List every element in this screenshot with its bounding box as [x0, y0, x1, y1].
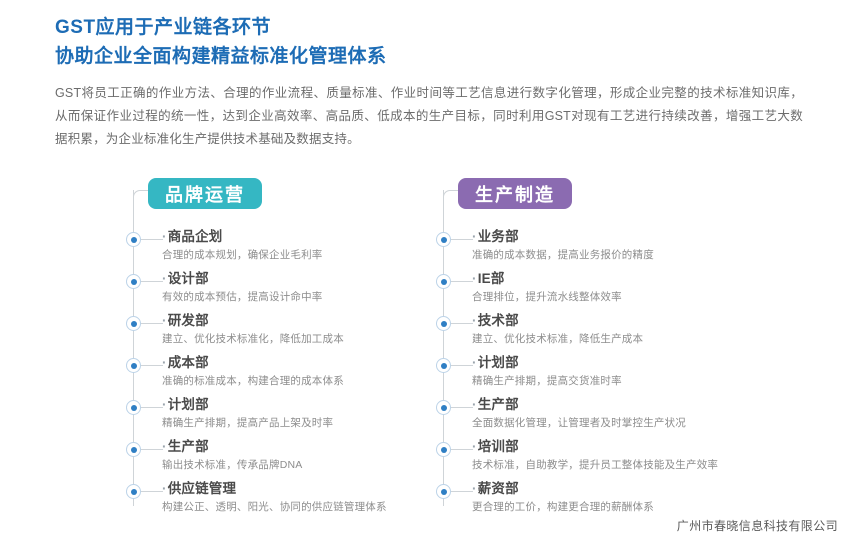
list-item-desc: 合理的成本规划，确保企业毛利率	[162, 248, 452, 263]
timeline-connector	[141, 323, 163, 324]
column-badge-production-manufacturing: 生产制造	[458, 178, 572, 209]
timeline-connector	[141, 281, 163, 282]
column-badge-brand-operations: 品牌运营	[148, 178, 262, 209]
timeline-dot-icon	[126, 400, 141, 415]
timeline-connector	[141, 239, 163, 240]
list-item-desc: 技术标准，自助教学，提升员工整体技能及生产效率	[472, 458, 762, 473]
timeline-connector	[451, 449, 473, 450]
list-item-title: IE部	[472, 270, 762, 288]
timeline-connector	[451, 281, 473, 282]
list-item[interactable]: 商品企划 合理的成本规划，确保企业毛利率	[122, 232, 452, 274]
timeline-dot-icon	[436, 400, 451, 415]
column-brand-operations: 品牌运营 商品企划 合理的成本规划，确保企业毛利率 设计部 有效的成本预估，提高…	[122, 176, 452, 506]
page-title-secondary: 协助企业全面构建精益标准化管理体系	[55, 42, 815, 72]
list-item-body: 供应链管理 构建公正、透明、阳光、协同的供应链管理体系	[162, 480, 452, 515]
list-item-title: 生产部	[472, 396, 762, 414]
list-item-body: 技术部 建立、优化技术标准，降低生产成本	[472, 312, 762, 347]
timeline-connector	[451, 365, 473, 366]
list-item[interactable]: 业务部 准确的成本数据，提高业务报价的精度	[432, 232, 762, 274]
timeline-connector	[141, 407, 163, 408]
timeline-dot-icon	[436, 484, 451, 499]
list-item-title: 计划部	[162, 396, 452, 414]
list-item-desc: 精确生产排期，提高交货准时率	[472, 374, 762, 389]
list-item-body: 成本部 准确的标准成本，构建合理的成本体系	[162, 354, 452, 389]
list-item-title: 商品企划	[162, 228, 452, 246]
list-item-body: 生产部 全面数据化管理，让管理者及时掌控生产状况	[472, 396, 762, 431]
list-item-title: 薪资部	[472, 480, 762, 498]
list-item-body: 生产部 输出技术标准，传承品牌DNA	[162, 438, 452, 473]
list-item[interactable]: 计划部 精确生产排期，提高产品上架及时率	[122, 400, 452, 442]
timeline-connector	[141, 365, 163, 366]
list-item-body: 设计部 有效的成本预估，提高设计命中率	[162, 270, 452, 305]
list-item-title: 业务部	[472, 228, 762, 246]
timeline-dot-icon	[126, 484, 141, 499]
timeline-dot-icon	[436, 358, 451, 373]
list-item-body: 商品企划 合理的成本规划，确保企业毛利率	[162, 228, 452, 263]
footer-company-name: 广州市春晓信息科技有限公司	[677, 517, 838, 534]
list-item[interactable]: 设计部 有效的成本预估，提高设计命中率	[122, 274, 452, 316]
list-item-title: 供应链管理	[162, 480, 452, 498]
list-item-desc: 准确的标准成本，构建合理的成本体系	[162, 374, 452, 389]
list-item-desc: 准确的成本数据，提高业务报价的精度	[472, 248, 762, 263]
timeline-connector	[141, 491, 163, 492]
list-item-title: 培训部	[472, 438, 762, 456]
list-item-title: 设计部	[162, 270, 452, 288]
list-item[interactable]: IE部 合理排位，提升流水线整体效率	[432, 274, 762, 316]
list-item[interactable]: 成本部 准确的标准成本，构建合理的成本体系	[122, 358, 452, 400]
timeline-dot-icon	[436, 274, 451, 289]
list-item[interactable]: 技术部 建立、优化技术标准，降低生产成本	[432, 316, 762, 358]
page-title-primary: GST应用于产业链各环节	[55, 14, 815, 42]
timeline-dot-icon	[126, 358, 141, 373]
list-item-desc: 有效的成本预估，提高设计命中率	[162, 290, 452, 305]
list-item-body: 计划部 精确生产排期，提高产品上架及时率	[162, 396, 452, 431]
timeline-connector	[451, 239, 473, 240]
timeline-connector	[141, 449, 163, 450]
list-item-title: 生产部	[162, 438, 452, 456]
column-production-manufacturing: 生产制造 业务部 准确的成本数据，提高业务报价的精度 IE部 合理排位，提升流水…	[432, 176, 762, 506]
list-item-desc: 合理排位，提升流水线整体效率	[472, 290, 762, 305]
list-item[interactable]: 生产部 全面数据化管理，让管理者及时掌控生产状况	[432, 400, 762, 442]
list-item-desc: 全面数据化管理，让管理者及时掌控生产状况	[472, 416, 762, 431]
list-item-desc: 输出技术标准，传承品牌DNA	[162, 458, 452, 473]
list-item[interactable]: 研发部 建立、优化技术标准化，降低加工成本	[122, 316, 452, 358]
timeline-dot-icon	[126, 232, 141, 247]
list-item-body: 薪资部 更合理的工价，构建更合理的薪酬体系	[472, 480, 762, 515]
list-item-body: 培训部 技术标准，自助教学，提升员工整体技能及生产效率	[472, 438, 762, 473]
list-item-title: 研发部	[162, 312, 452, 330]
list-item-body: 计划部 精确生产排期，提高交货准时率	[472, 354, 762, 389]
intro-paragraph: GST将员工正确的作业方法、合理的作业流程、质量标准、作业时间等工艺信息进行数字…	[55, 82, 803, 151]
list-item-desc: 构建公正、透明、阳光、协同的供应链管理体系	[162, 500, 452, 515]
page-header: GST应用于产业链各环节 协助企业全面构建精益标准化管理体系 GST将员工正确的…	[55, 14, 815, 151]
list-item-title: 计划部	[472, 354, 762, 372]
list-item-desc: 建立、优化技术标准化，降低加工成本	[162, 332, 452, 347]
list-item-desc: 更合理的工价，构建更合理的薪酬体系	[472, 500, 762, 515]
columns-container: 品牌运营 商品企划 合理的成本规划，确保企业毛利率 设计部 有效的成本预估，提高…	[0, 176, 850, 506]
list-item-title: 成本部	[162, 354, 452, 372]
timeline-dot-icon	[126, 316, 141, 331]
timeline-dot-icon	[436, 316, 451, 331]
list-item[interactable]: 生产部 输出技术标准，传承品牌DNA	[122, 442, 452, 484]
list-item-desc: 精确生产排期，提高产品上架及时率	[162, 416, 452, 431]
timeline-dot-icon	[126, 274, 141, 289]
list-item[interactable]: 培训部 技术标准，自助教学，提升员工整体技能及生产效率	[432, 442, 762, 484]
list-item[interactable]: 计划部 精确生产排期，提高交货准时率	[432, 358, 762, 400]
timeline-dot-icon	[436, 442, 451, 457]
timeline-dot-icon	[436, 232, 451, 247]
list-item-title: 技术部	[472, 312, 762, 330]
timeline-connector	[451, 491, 473, 492]
list-item-desc: 建立、优化技术标准，降低生产成本	[472, 332, 762, 347]
list-item[interactable]: 供应链管理 构建公正、透明、阳光、协同的供应链管理体系	[122, 484, 452, 526]
list-item-body: 业务部 准确的成本数据，提高业务报价的精度	[472, 228, 762, 263]
list-item-body: 研发部 建立、优化技术标准化，降低加工成本	[162, 312, 452, 347]
list-item-body: IE部 合理排位，提升流水线整体效率	[472, 270, 762, 305]
timeline-dot-icon	[126, 442, 141, 457]
timeline-connector	[451, 407, 473, 408]
timeline-connector	[451, 323, 473, 324]
